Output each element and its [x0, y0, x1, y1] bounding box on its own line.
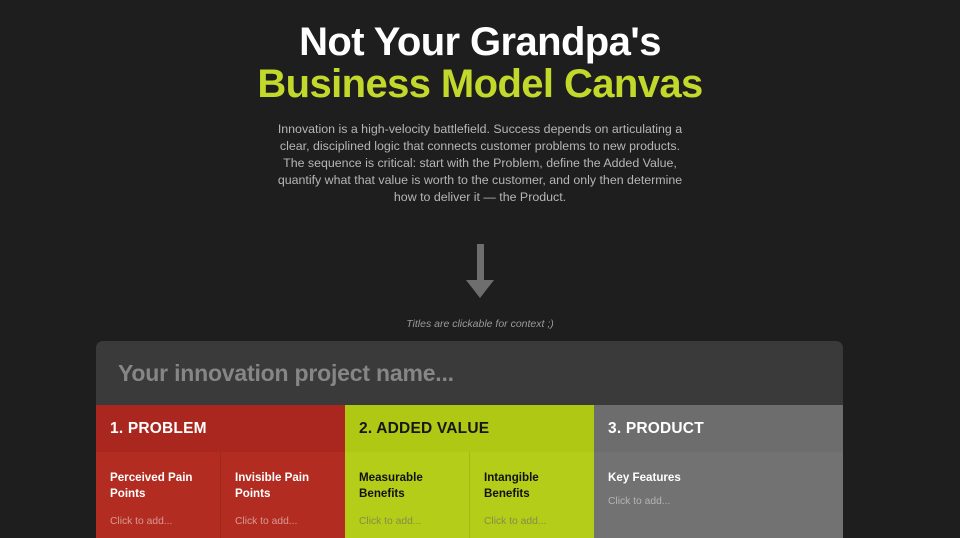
- page-title: Not Your Grandpa's Business Model Canvas: [0, 22, 960, 105]
- subcolumn-measurable-benefits[interactable]: Measurable Benefits Click to add...: [345, 452, 469, 538]
- down-arrow-icon: [0, 244, 960, 298]
- column-body-problem: Perceived Pain Points Click to add... In…: [96, 452, 345, 538]
- subcolumn-invisible-pain-points[interactable]: Invisible Pain Points Click to add...: [220, 452, 345, 538]
- canvas-columns: 1. PROBLEM Perceived Pain Points Click t…: [96, 405, 843, 538]
- subcolumn-title: Key Features: [608, 470, 829, 486]
- subcolumn-key-features[interactable]: Key Features Click to add...: [594, 452, 843, 538]
- hero-description: Innovation is a high-velocity battlefiel…: [273, 121, 687, 206]
- arrow-caption: Titles are clickable for context ;): [0, 318, 960, 330]
- subcolumn-add-placeholder[interactable]: Click to add...: [235, 516, 331, 527]
- subcolumn-title: Invisible Pain Points: [235, 470, 327, 502]
- canvas-column-product: 3. PRODUCT Key Features Click to add...: [594, 405, 843, 538]
- arrow-shaft: [477, 244, 484, 280]
- page-root: Not Your Grandpa's Business Model Canvas…: [0, 0, 960, 538]
- subcolumn-add-placeholder[interactable]: Click to add...: [608, 496, 829, 507]
- page-title-line-2: Business Model Canvas: [0, 64, 960, 106]
- column-heading-problem[interactable]: 1. PROBLEM: [96, 405, 345, 452]
- business-model-canvas: Your innovation project name... 1. PROBL…: [96, 341, 843, 538]
- subcolumn-intangible-benefits[interactable]: Intangible Benefits Click to add...: [469, 452, 594, 538]
- column-heading-added-value[interactable]: 2. ADDED VALUE: [345, 405, 594, 452]
- column-body-product: Key Features Click to add...: [594, 452, 843, 538]
- column-heading-product[interactable]: 3. PRODUCT: [594, 405, 843, 452]
- project-name-input[interactable]: Your innovation project name...: [118, 360, 454, 387]
- subcolumn-perceived-pain-points[interactable]: Perceived Pain Points Click to add...: [96, 452, 220, 538]
- subcolumn-add-placeholder[interactable]: Click to add...: [359, 516, 455, 527]
- subcolumn-add-placeholder[interactable]: Click to add...: [110, 516, 206, 527]
- hero-section: Not Your Grandpa's Business Model Canvas…: [0, 0, 960, 206]
- column-body-added-value: Measurable Benefits Click to add... Inta…: [345, 452, 594, 538]
- page-title-line-1: Not Your Grandpa's: [0, 22, 960, 64]
- canvas-header[interactable]: Your innovation project name...: [96, 341, 843, 405]
- arrow-head: [466, 280, 494, 298]
- subcolumn-title: Measurable Benefits: [359, 470, 451, 502]
- canvas-column-added-value: 2. ADDED VALUE Measurable Benefits Click…: [345, 405, 594, 538]
- canvas-column-problem: 1. PROBLEM Perceived Pain Points Click t…: [96, 405, 345, 538]
- subcolumn-title: Perceived Pain Points: [110, 470, 202, 502]
- subcolumn-title: Intangible Benefits: [484, 470, 576, 502]
- subcolumn-add-placeholder[interactable]: Click to add...: [484, 516, 580, 527]
